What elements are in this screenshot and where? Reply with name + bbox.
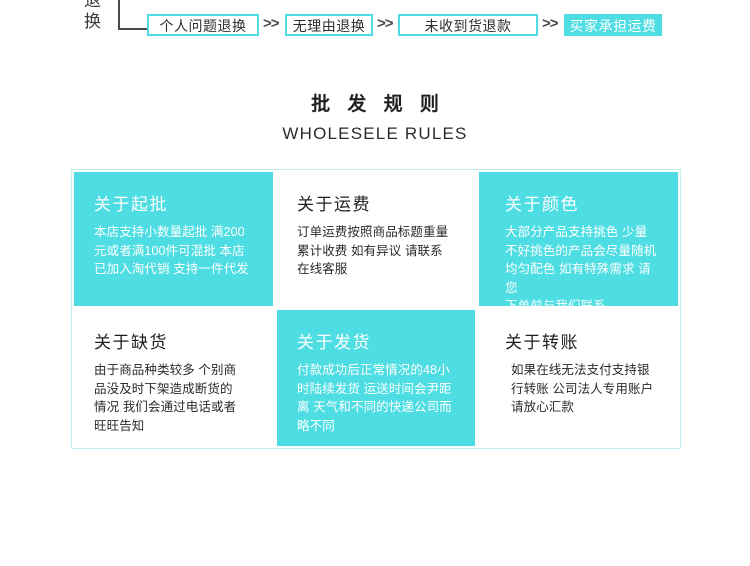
flow-bracket-horizontal-line — [118, 28, 147, 30]
rule-card-heading: 关于缺货 — [94, 332, 255, 354]
rule-card-bank-transfer: 关于转账 如果在线无法支付支持银 行转账 公司法人专用账户 请放心汇款 — [477, 308, 680, 448]
section-title: 批 发 规 则 WHOLESELE RULES — [0, 92, 750, 147]
rule-card-body: 本店支持小数量起批 满200 元或者满100件可混批 本店 已加入淘代销 支持一… — [94, 223, 255, 279]
flow-bracket-vertical-line — [118, 0, 120, 30]
flow-step-buyer-pays-shipping[interactable]: 买家承担运费 — [564, 14, 662, 36]
page-title-en: WHOLESELE RULES — [0, 121, 750, 147]
return-flow-bar: 退 换 个人问题退换 >> 无理由退换 >> 未收到货退款 >> 买家承担运费 — [0, 0, 750, 48]
rule-card-color: 关于颜色 大部分产品支持挑色 少量 不好挑色的产品会尽量随机 均匀配色 如有特殊… — [477, 170, 680, 308]
rule-card-heading: 关于运费 — [297, 194, 457, 216]
rule-card-body: 由于商品种类较多 个别商 品没及时下架造成断货的 情况 我们会通过电话或者 旺旺… — [94, 361, 255, 435]
rule-card-body: 如果在线无法支付支持银 行转账 公司法人专用账户 请放心汇款 — [499, 361, 660, 417]
rule-card-heading: 关于起批 — [94, 194, 255, 216]
rule-card-body: 订单运费按照商品标题重量 累计收费 如有异议 请联系 在线客服 — [297, 223, 457, 279]
flow-step-not-received-refund[interactable]: 未收到货退款 — [398, 14, 538, 36]
flow-arrow-icon-1: >> — [263, 15, 279, 32]
flow-arrow-icon-3: >> — [542, 15, 558, 32]
wholesale-rules-grid: 关于起批 本店支持小数量起批 满200 元或者满100件可混批 本店 已加入淘代… — [72, 170, 680, 448]
rule-card-minimum-order: 关于起批 本店支持小数量起批 满200 元或者满100件可混批 本店 已加入淘代… — [72, 170, 275, 308]
rule-card-out-of-stock: 关于缺货 由于商品种类较多 个别商 品没及时下架造成断货的 情况 我们会通过电话… — [72, 308, 275, 448]
flow-step-personal-return[interactable]: 个人问题退换 — [147, 14, 259, 36]
rule-card-heading: 关于转账 — [499, 332, 660, 354]
rule-card-delivery: 关于发货 付款成功后正常情况的48小 时陆续发货 运送时间会尹距 离 天气和不同… — [275, 308, 477, 448]
rule-card-shipping-fee: 关于运费 订单运费按照商品标题重量 累计收费 如有异议 请联系 在线客服 — [275, 170, 477, 308]
flow-side-label: 退 换 — [84, 0, 114, 32]
rule-card-heading: 关于发货 — [297, 332, 457, 354]
flow-step-no-reason-return[interactable]: 无理由退换 — [285, 14, 373, 36]
rule-card-body: 付款成功后正常情况的48小 时陆续发货 运送时间会尹距 离 天气和不同的快递公司… — [297, 361, 457, 435]
flow-arrow-icon-2: >> — [377, 15, 393, 32]
page-title-cn: 批 发 规 则 — [0, 92, 750, 118]
rule-card-heading: 关于颜色 — [499, 194, 660, 216]
rule-card-body: 大部分产品支持挑色 少量 不好挑色的产品会尽量随机 均匀配色 如有特殊需求 请您… — [499, 223, 660, 308]
